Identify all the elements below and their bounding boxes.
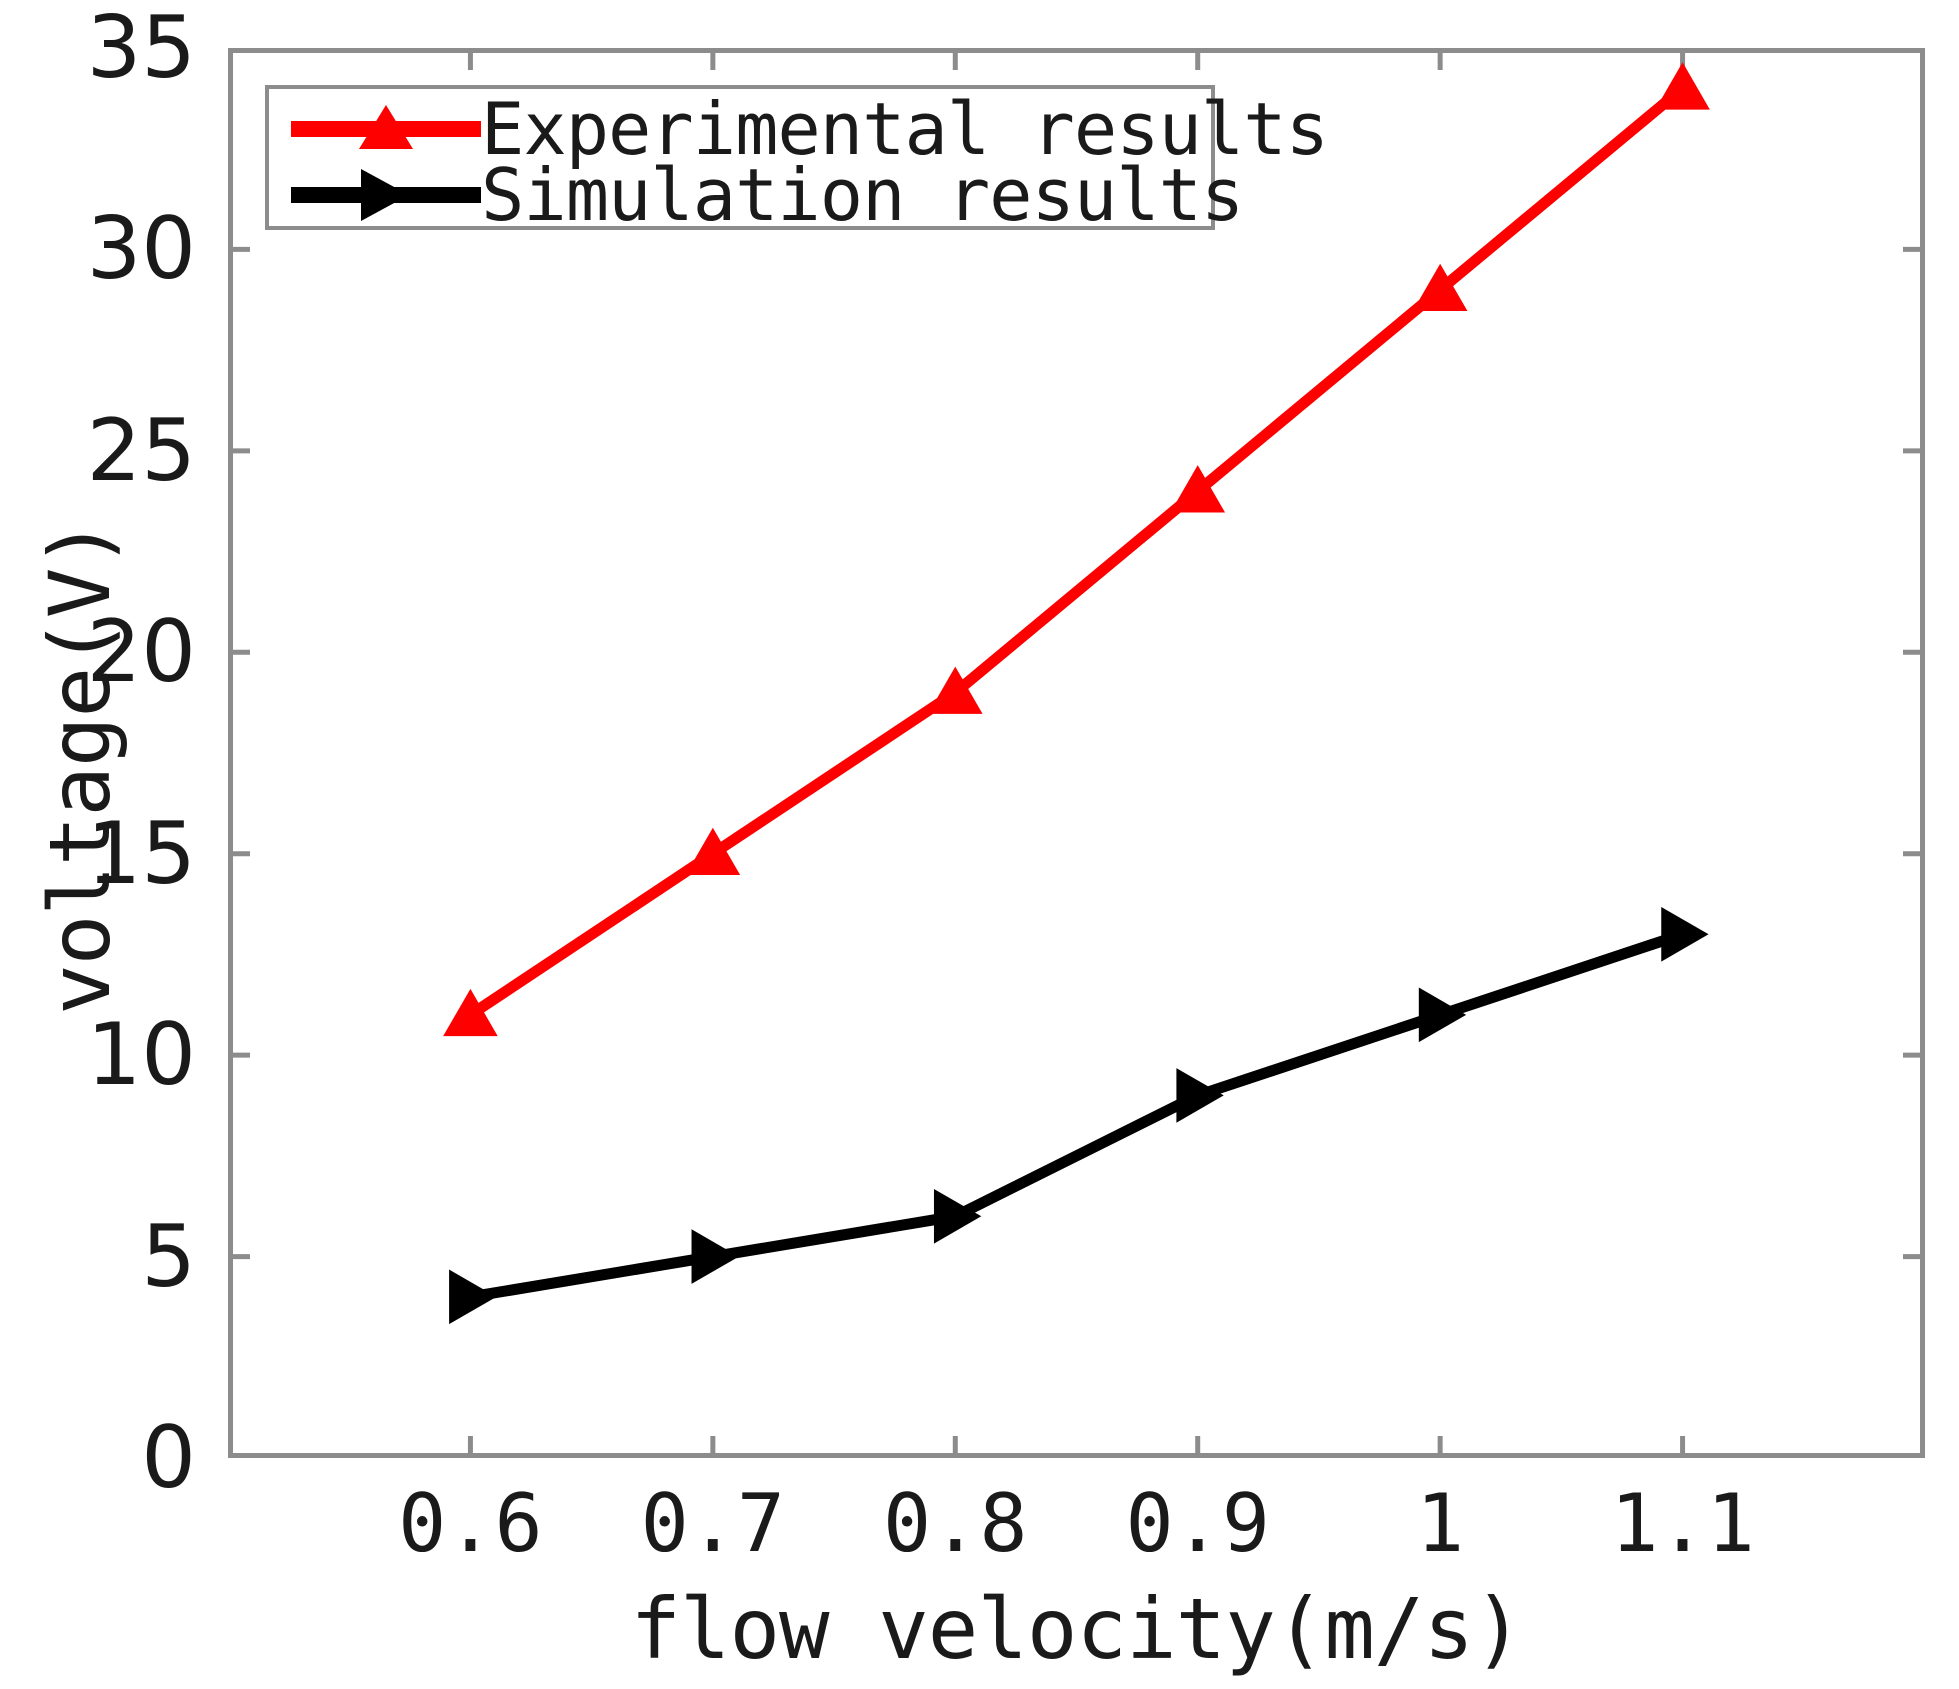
series-marker — [449, 1270, 496, 1325]
plot-data-layer — [228, 48, 1925, 1458]
x-tick-label: 0.6 — [398, 1484, 543, 1564]
y-tick-label: 35 — [87, 5, 196, 91]
legend-swatch-simulation — [291, 165, 481, 225]
x-tick-label: 0.7 — [641, 1484, 786, 1564]
x-tick-label: 1 — [1416, 1484, 1464, 1564]
series-marker — [1655, 62, 1710, 109]
data-series-group — [443, 62, 1710, 1324]
axis-ticks — [228, 48, 1925, 1458]
series-marker — [1419, 988, 1466, 1043]
y-tick-label: 5 — [141, 1214, 196, 1300]
x-tick-label: 0.9 — [1125, 1484, 1270, 1564]
legend-label-simulation-results: Simulation results — [481, 159, 1243, 231]
chart-legend[interactable]: Experimental results Simulation results — [265, 85, 1215, 230]
x-tick-label: 0.8 — [883, 1484, 1028, 1564]
y-tick-label: 0 — [141, 1415, 196, 1501]
series-marker — [692, 1229, 739, 1284]
chart-figure: 05101520253035 0.60.70.80.911.1 flow vel… — [0, 0, 1959, 1689]
series-marker — [1661, 907, 1708, 962]
x-tick-label: 1.1 — [1610, 1484, 1755, 1564]
legend-swatch-experimental — [291, 99, 481, 159]
series-marker — [934, 1189, 981, 1244]
legend-item-simulation-results[interactable]: Simulation results — [269, 161, 1211, 229]
y-axis-title: voltage(V) — [31, 367, 129, 1167]
series-marker — [1176, 1068, 1223, 1123]
y-tick-label: 30 — [87, 206, 196, 292]
data-series-simulation — [449, 907, 1708, 1324]
x-axis-title: flow velocity(m/s) — [228, 1580, 1925, 1678]
series-line — [470, 934, 1682, 1297]
